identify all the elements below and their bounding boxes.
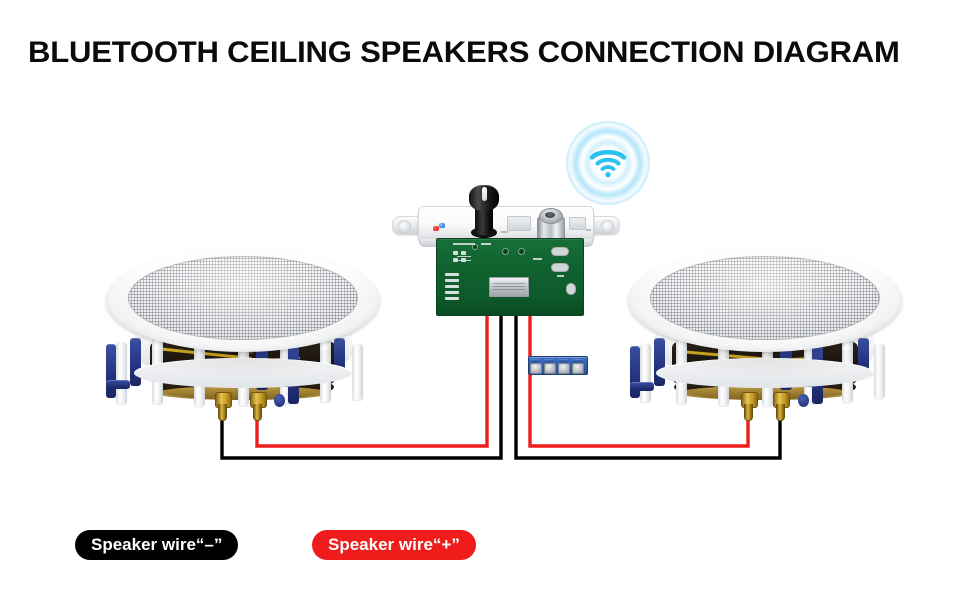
bluetooth-led-blue xyxy=(439,223,445,228)
ceiling-speaker-left[interactable] xyxy=(98,246,388,446)
silkscreen-mark-5 xyxy=(457,256,471,257)
mounting-clamp-left-1b xyxy=(106,380,130,389)
power-led-red xyxy=(433,226,439,231)
speaker-post-7 xyxy=(874,344,885,398)
mount-pad-3 xyxy=(566,283,576,295)
speaker-grille-rim-left xyxy=(128,256,358,340)
pad-group-top-3 xyxy=(453,258,458,262)
mount-pad-1 xyxy=(551,247,569,256)
pad-group-top-1 xyxy=(453,251,458,255)
terminal-screw-1-positive[interactable] xyxy=(530,363,542,374)
terminal-screw-2-negative[interactable] xyxy=(544,363,556,374)
speaker-terminal-block[interactable] xyxy=(528,356,588,375)
ceiling-speaker-right[interactable] xyxy=(620,246,910,446)
pad-group-top-4 xyxy=(461,258,466,262)
silkscreen-mark-2 xyxy=(481,243,491,245)
pad-group-left-2 xyxy=(445,279,459,282)
speaker-shadow-right xyxy=(656,350,874,376)
terminal-screw-3-negative[interactable] xyxy=(558,363,570,374)
terminal-slot-2 xyxy=(545,359,554,362)
pad-group-left-3 xyxy=(445,285,459,288)
silkscreen-mark-1 xyxy=(453,243,475,245)
binding-post-stem xyxy=(744,404,753,421)
terminal-screw-4-positive[interactable] xyxy=(572,363,584,374)
binding-post-stem xyxy=(253,404,262,421)
terminal-slot-1 xyxy=(531,359,540,362)
knob-cap xyxy=(469,185,499,211)
speaker-post-7 xyxy=(352,344,363,400)
pad-group-top-2 xyxy=(461,251,466,255)
usb-slot xyxy=(569,217,586,230)
mounting-clamp-left-1 xyxy=(106,344,116,398)
module-label xyxy=(493,281,525,290)
faceplate-tick-1 xyxy=(501,231,508,233)
mounting-hole-right xyxy=(601,220,614,233)
wifi-signal-icon xyxy=(588,145,628,179)
indicator-dot-blue-left xyxy=(274,394,285,407)
speaker-post-1 xyxy=(640,344,651,402)
connector-hole xyxy=(545,212,555,218)
binding-post-positive-right[interactable] xyxy=(741,392,756,422)
via-1 xyxy=(503,249,508,254)
indicator-dot-blue-right xyxy=(798,394,809,407)
bluetooth-amplifier-board[interactable] xyxy=(392,176,618,316)
mounting-clamp-right-1b xyxy=(630,382,654,391)
pad-group-left-1 xyxy=(445,273,459,276)
diagram-canvas: BLUETOOTH CEILING SPEAKERS CONNECTION DI… xyxy=(0,0,970,600)
amplifier-pcb xyxy=(436,238,584,316)
legend-positive-badge: Speaker wire“+” xyxy=(312,530,476,560)
speaker-shadow-left xyxy=(134,350,352,376)
binding-post-negative-right[interactable] xyxy=(773,392,788,422)
mount-pad-2 xyxy=(551,263,569,272)
silkscreen-mark-4 xyxy=(557,275,564,277)
binding-post-positive-left[interactable] xyxy=(250,392,265,422)
via-2 xyxy=(519,249,524,254)
faceplate-tick-4 xyxy=(586,229,591,231)
legend-negative-badge: Speaker wire“–” xyxy=(75,530,238,560)
binding-post-negative-left[interactable] xyxy=(215,392,230,422)
speaker-post-1 xyxy=(116,342,127,404)
terminal-slot-3 xyxy=(559,359,568,362)
pad-group-left-5 xyxy=(445,297,459,300)
knob-indicator xyxy=(482,187,487,201)
pad-group-left-4 xyxy=(445,291,459,294)
mounting-hole-left xyxy=(398,220,411,233)
via-3 xyxy=(473,245,477,249)
terminal-slot-4 xyxy=(573,359,582,362)
bluetooth-module-shield xyxy=(489,277,529,297)
speaker-grille-rim-right xyxy=(650,256,880,340)
silkscreen-mark-3 xyxy=(533,258,542,260)
binding-post-stem xyxy=(218,404,227,421)
volume-knob[interactable] xyxy=(469,185,499,239)
amplifier-faceplate xyxy=(418,206,594,242)
display-slot xyxy=(507,216,531,231)
binding-post-stem xyxy=(776,404,785,421)
